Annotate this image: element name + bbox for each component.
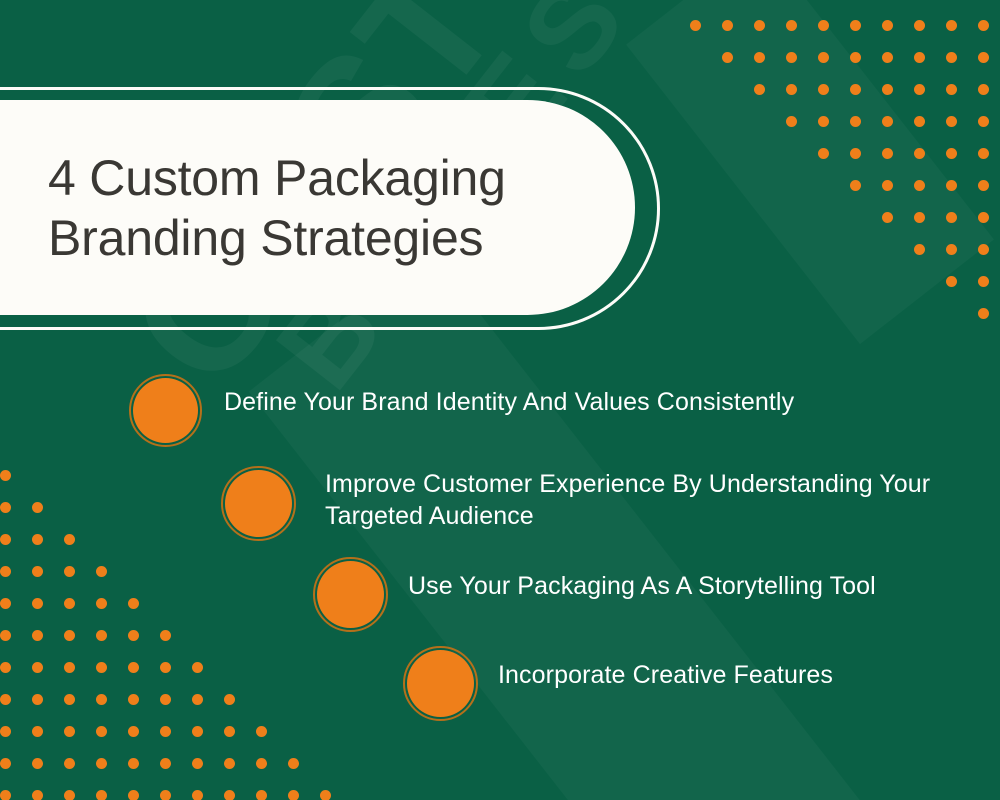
infographic-canvas: CUSTOM BOXES 4 Custom Packaging Branding… [0,0,1000,800]
list-item[interactable]: Use Your Packaging As A Storytelling Too… [317,561,968,628]
bullet-circle-icon [225,470,292,537]
bullet-circle-icon [407,650,474,717]
bullet-circle-icon [317,561,384,628]
strategy-list: Define Your Brand Identity And Values Co… [0,0,1000,800]
list-item[interactable]: Improve Customer Experience By Understan… [225,470,965,537]
bullet-circle-icon [133,378,198,443]
list-item[interactable]: Incorporate Creative Features [407,650,978,717]
list-item-label: Incorporate Creative Features [498,659,978,691]
list-item[interactable]: Define Your Brand Identity And Values Co… [133,378,864,443]
list-item-label: Define Your Brand Identity And Values Co… [224,386,864,418]
list-item-label: Improve Customer Experience By Understan… [325,468,965,532]
list-item-label: Use Your Packaging As A Storytelling Too… [408,570,968,602]
